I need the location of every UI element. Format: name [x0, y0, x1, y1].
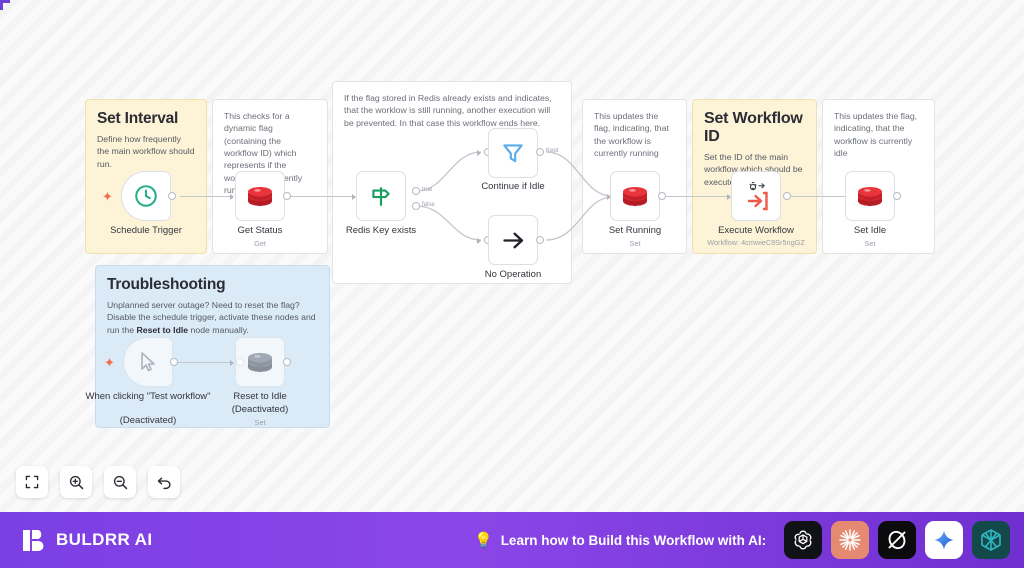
- if-signpost-icon: [368, 183, 394, 209]
- port-out-false-redis-key-exists[interactable]: [412, 202, 420, 210]
- port-out-reset-to-idle[interactable]: [283, 358, 291, 366]
- sticky-title-troubleshooting: Troubleshooting: [107, 276, 318, 294]
- node-label-when-clicking-test-workflow: When clicking "Test workflow": [83, 391, 213, 403]
- trigger-bolt-icon: ✦: [102, 190, 113, 203]
- node-reset-to-idle[interactable]: [235, 337, 285, 387]
- node-sub-get-status: Get: [195, 239, 325, 248]
- node-label-continue-if-idle: Continue if Idle: [448, 181, 578, 193]
- node-label-set-idle: Set Idle: [805, 225, 935, 237]
- filter-funnel-icon: [500, 140, 526, 166]
- perplexity-glyph-icon: [978, 527, 1004, 553]
- node-redis-key-exists[interactable]: [356, 171, 406, 221]
- execute-workflow-icon: [739, 179, 773, 213]
- node-sub-execute-workflow: Workflow: 4cmwieC9Sr5ngGZ: [691, 238, 821, 247]
- sticky-text-troubleshooting: Unplanned server outage? Need to reset t…: [107, 299, 318, 336]
- workflow-canvas[interactable]: Set Interval Define how frequently the m…: [0, 0, 1024, 512]
- buldrr-logo-icon: [22, 528, 47, 553]
- node-label-schedule-trigger: Schedule Trigger: [81, 225, 211, 237]
- node-set-running[interactable]: [610, 171, 660, 221]
- port-out-no-operation[interactable]: [536, 236, 544, 244]
- node-status-when-clicking-test-workflow: (Deactivated): [83, 415, 213, 427]
- node-no-operation[interactable]: [488, 215, 538, 265]
- port-out-when-clicking-test-workflow[interactable]: [170, 358, 178, 366]
- arrowhead-reset: [230, 360, 234, 366]
- port-out-set-running[interactable]: [658, 192, 666, 200]
- gemini-icon[interactable]: [925, 521, 963, 559]
- node-label-execute-workflow: Execute Workflow: [691, 225, 821, 237]
- port-out-true-redis-key-exists[interactable]: [412, 187, 420, 195]
- port-out-continue-if-idle[interactable]: [536, 148, 544, 156]
- lightbulb-icon: 💡: [474, 531, 493, 549]
- node-label-redis-key-exists: Redis Key exists: [316, 225, 446, 237]
- port-out-execute-workflow[interactable]: [783, 192, 791, 200]
- clock-icon: [133, 183, 159, 209]
- node-continue-if-idle[interactable]: [488, 128, 538, 178]
- wire-getstatus-to-rediskey: [288, 196, 355, 197]
- sticky-title-set-workflow-id: Set Workflow ID: [704, 110, 805, 146]
- node-label-reset-to-idle: Reset to Idle: [195, 391, 325, 403]
- reset-zoom-button[interactable]: [148, 466, 180, 498]
- zoom-in-button[interactable]: [60, 466, 92, 498]
- grok-icon[interactable]: [878, 521, 916, 559]
- wire-setrunning-to-execute: [664, 196, 730, 197]
- arrowhead-getstatus: [230, 194, 234, 200]
- node-sub-reset-to-idle: Set: [195, 418, 325, 427]
- grok-glyph-icon: [884, 527, 910, 553]
- wire-trigger-to-getstatus: [180, 196, 233, 197]
- brand-name: BULDRR AI: [56, 530, 152, 550]
- redis-icon: [856, 184, 884, 208]
- fit-to-view-icon: [24, 474, 40, 490]
- zoom-out-button[interactable]: [104, 466, 136, 498]
- node-get-status[interactable]: [235, 171, 285, 221]
- port-out-set-idle[interactable]: [893, 192, 901, 200]
- node-status-reset-to-idle: (Deactivated): [195, 404, 325, 416]
- node-execute-workflow[interactable]: [731, 171, 781, 221]
- openai-glyph-icon: [791, 528, 815, 552]
- arrow-right-icon: [500, 227, 527, 254]
- sticky-text-set-running: This updates the flag, indicating, that …: [594, 110, 675, 159]
- node-set-idle[interactable]: [845, 171, 895, 221]
- port-out-schedule-trigger[interactable]: [168, 192, 176, 200]
- sticky-text-redis-flag: If the flag stored in Redis already exis…: [344, 92, 560, 129]
- trigger-bolt-icon-troubleshooting: ✦: [104, 356, 115, 369]
- troubleshooting-text-part2: node manually.: [188, 325, 249, 335]
- troubleshooting-text-bold: Reset to Idle: [136, 325, 188, 335]
- cta-text: Learn how to Build this Workflow with AI…: [501, 533, 767, 548]
- ai-tool-icons: [784, 521, 1010, 559]
- port-label-kept: Kept: [546, 148, 558, 154]
- node-label-set-running: Set Running: [570, 225, 700, 237]
- perplexity-icon[interactable]: [972, 521, 1010, 559]
- port-out-get-status[interactable]: [283, 192, 291, 200]
- fit-to-view-button[interactable]: [16, 466, 48, 498]
- redis-icon: [621, 184, 649, 208]
- sticky-text-set-idle: This updates the flag, indicating, that …: [834, 110, 923, 159]
- redis-icon: [246, 184, 274, 208]
- node-when-clicking-test-workflow[interactable]: [123, 337, 173, 387]
- wire-click-to-reset: [175, 362, 233, 363]
- cursor-icon: [136, 350, 160, 374]
- node-label-no-operation: No Operation: [448, 269, 578, 281]
- node-schedule-trigger[interactable]: [121, 171, 171, 221]
- sticky-title-set-interval: Set Interval: [97, 110, 195, 128]
- wire-execute-to-setidle: [790, 196, 850, 197]
- zoom-in-icon: [68, 474, 85, 491]
- node-sub-set-idle: Set: [805, 239, 935, 248]
- canvas-toolbar[interactable]: [16, 466, 180, 498]
- port-label-true: true: [422, 187, 432, 193]
- node-label-get-status: Get Status: [195, 225, 325, 237]
- port-label-false: false: [422, 202, 435, 208]
- cta-block: 💡 Learn how to Build this Workflow with …: [474, 531, 766, 549]
- redis-gray-icon: [246, 350, 274, 374]
- arrowhead-no-operation: [477, 238, 481, 244]
- undo-arrow-icon: [156, 474, 173, 491]
- openai-icon[interactable]: [784, 521, 822, 559]
- claude-icon[interactable]: [831, 521, 869, 559]
- claude-burst-icon: [837, 527, 863, 553]
- gemini-spark-icon: [932, 528, 956, 552]
- node-sub-set-running: Set: [570, 239, 700, 248]
- sticky-text-set-interval: Define how frequently the main workflow …: [97, 133, 195, 170]
- zoom-out-icon: [112, 474, 129, 491]
- footer-bar: BULDRR AI 💡 Learn how to Build this Work…: [0, 512, 1024, 568]
- arrowhead-continue-if-idle: [477, 150, 481, 156]
- brand-logo[interactable]: BULDRR AI: [22, 528, 152, 553]
